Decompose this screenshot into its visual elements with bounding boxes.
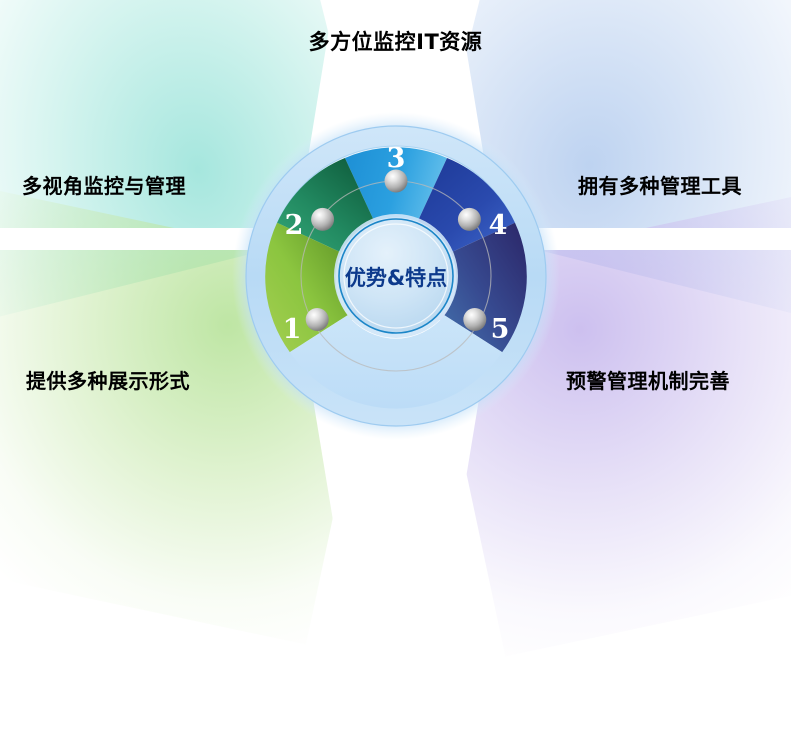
- segment-number-4: 4: [489, 210, 508, 241]
- label-left-bottom: 提供多种展示形式: [26, 365, 190, 394]
- marker-sphere-5[interactable]: [463, 308, 486, 331]
- infographic-canvas: 3 2 1 4 5 优势&特点 多方位监控IT资源 多视角监控与管理 提供多种展…: [0, 0, 791, 487]
- donut-wheel: 3 2 1 4 5 优势&特点: [232, 112, 560, 440]
- segment-number-3: 3: [387, 143, 406, 174]
- marker-sphere-2[interactable]: [311, 208, 334, 231]
- segment-number-1: 1: [283, 314, 302, 345]
- segment-number-5: 5: [491, 314, 510, 345]
- center-label: 优势&特点: [345, 266, 447, 290]
- label-right-top: 拥有多种管理工具: [578, 170, 742, 199]
- marker-sphere-1[interactable]: [306, 308, 329, 331]
- label-right-bottom: 预警管理机制完善: [566, 365, 730, 394]
- marker-sphere-4[interactable]: [458, 208, 481, 231]
- segment-number-2: 2: [285, 210, 304, 241]
- label-top: 多方位监控IT资源: [0, 26, 791, 56]
- label-left-top: 多视角监控与管理: [22, 170, 186, 199]
